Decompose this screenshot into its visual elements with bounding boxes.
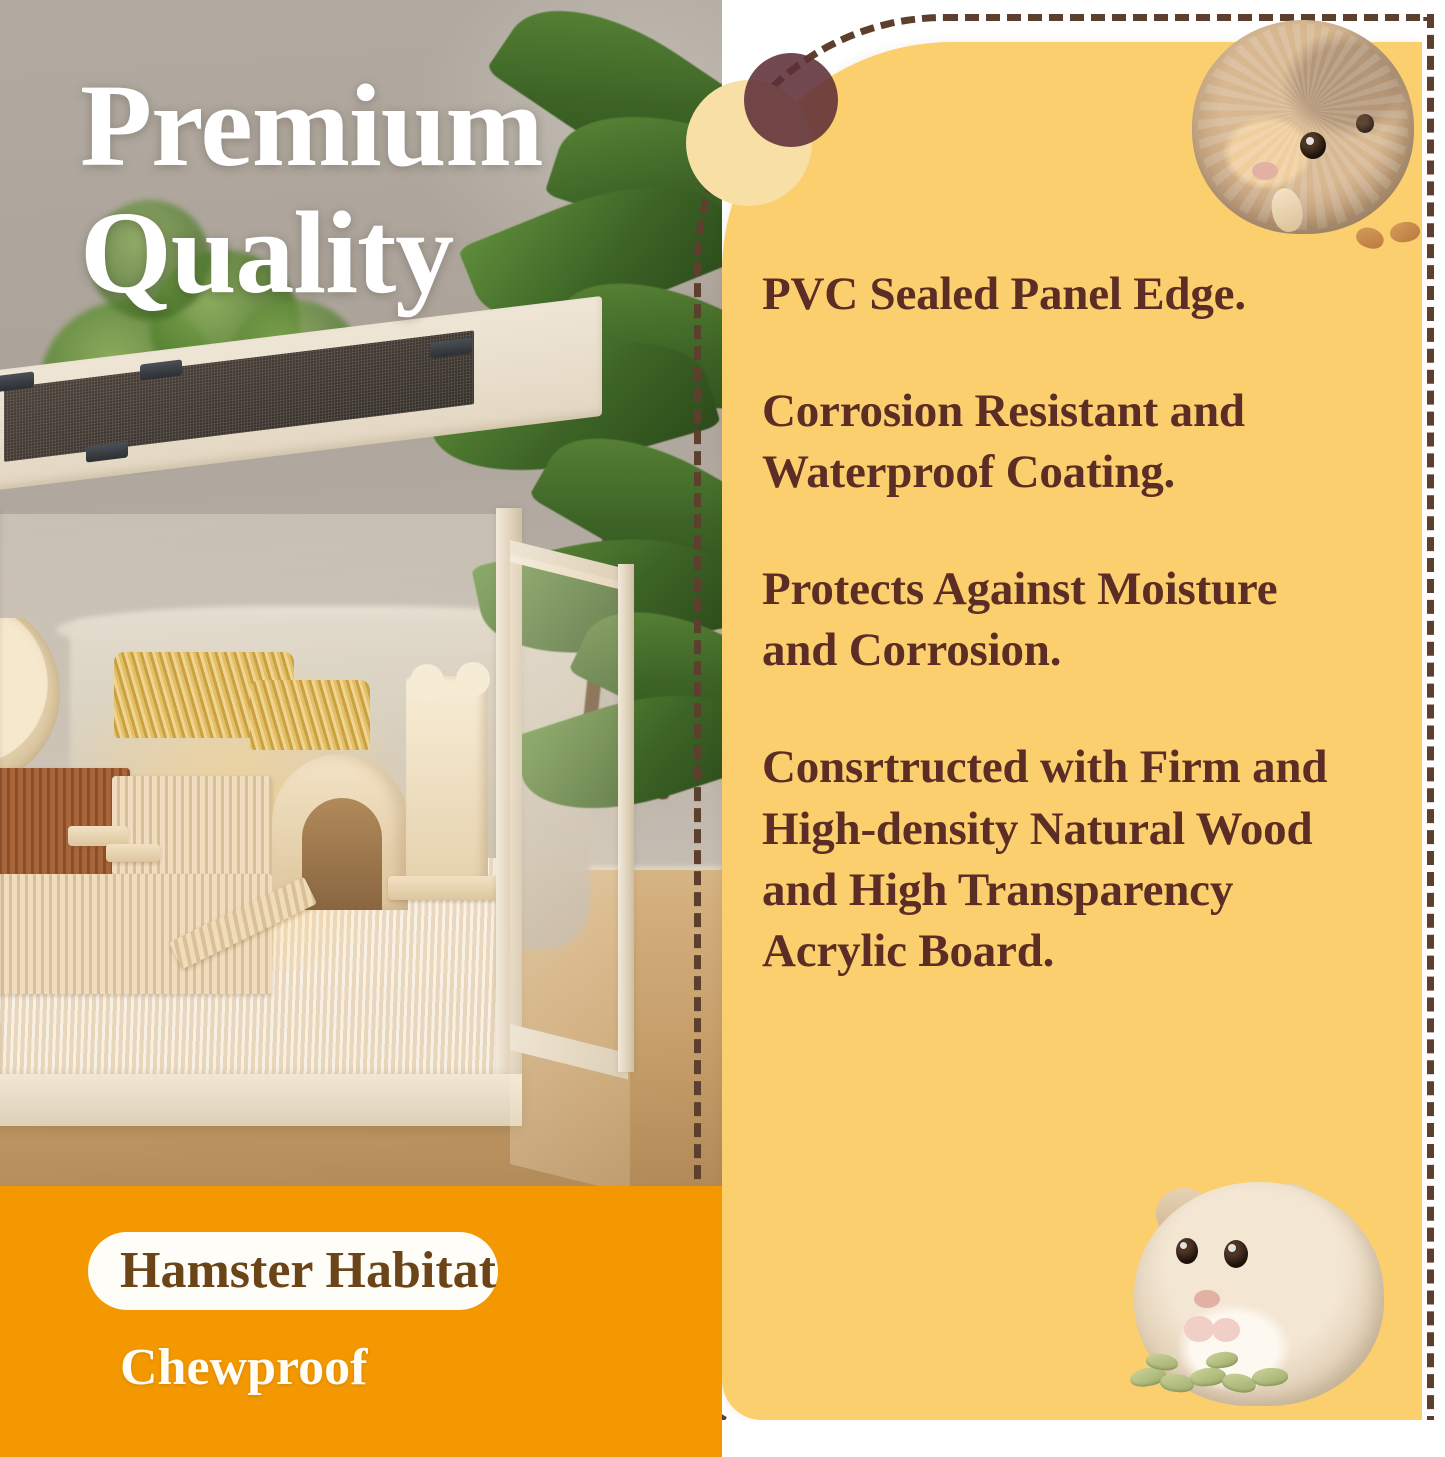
feature-item-moisture-protection: Protects Against Moisture and Corrosion. bbox=[762, 559, 1422, 681]
hamster-paw bbox=[1184, 1316, 1214, 1342]
hamster-eye-glint bbox=[1228, 1244, 1236, 1252]
product-photo-hamster-cage bbox=[0, 372, 642, 1172]
hamster-nose bbox=[1252, 162, 1278, 180]
wood-platform bbox=[68, 826, 128, 846]
hamster-nose bbox=[1194, 1290, 1220, 1308]
feature-item-construction-material: Consrtructed with Firm and High-density … bbox=[762, 737, 1422, 981]
brand-tagline-label: Chewproof bbox=[120, 1340, 680, 1396]
hamster-fur-texture bbox=[1198, 24, 1408, 230]
cage-interior bbox=[0, 618, 506, 1088]
hay-pile bbox=[250, 680, 370, 750]
feature-item-corrosion-resistant: Corrosion Resistant and Waterproof Coati… bbox=[762, 381, 1422, 503]
hamster-with-seeds-photo bbox=[1128, 1182, 1400, 1432]
hamster-eye-glint bbox=[1306, 137, 1314, 145]
cage-body bbox=[0, 468, 602, 1148]
bottom-left-band-extension bbox=[0, 1420, 722, 1457]
food-seed bbox=[1389, 220, 1421, 244]
water-bottle-tower bbox=[406, 676, 488, 882]
hideout-entrance bbox=[302, 798, 382, 910]
hamster-eye bbox=[1176, 1238, 1198, 1264]
bear-ear bbox=[410, 664, 444, 698]
maroon-circle-decoration-icon bbox=[744, 53, 838, 147]
feature-list: PVC Sealed Panel Edge. Corrosion Resista… bbox=[762, 264, 1422, 982]
page-title: Premium Quality bbox=[80, 62, 700, 317]
hamster-paw bbox=[1212, 1318, 1240, 1342]
feature-item-pvc-sealed-edge: PVC Sealed Panel Edge. bbox=[762, 264, 1422, 325]
hamster-eating-photo bbox=[1188, 14, 1418, 242]
exercise-wheel bbox=[0, 618, 60, 788]
brand-band bbox=[0, 1186, 722, 1457]
hamster-eye-glint bbox=[1180, 1242, 1187, 1249]
cage-base-rail bbox=[0, 1074, 522, 1126]
brand-name-label: Hamster Habitat bbox=[120, 1243, 680, 1299]
wood-platform bbox=[106, 844, 160, 862]
hamster-eye bbox=[1224, 1240, 1248, 1268]
product-infographic: Premium Quality PVC Sealed Panel Edge. C… bbox=[0, 0, 1445, 1457]
bottle-base bbox=[388, 876, 506, 900]
hamster-eye bbox=[1300, 132, 1326, 159]
bear-ear bbox=[456, 662, 490, 696]
cage-rear-post bbox=[618, 564, 634, 1072]
hamster-eye bbox=[1356, 114, 1374, 133]
cage-side-acrylic-panel bbox=[510, 554, 630, 1194]
